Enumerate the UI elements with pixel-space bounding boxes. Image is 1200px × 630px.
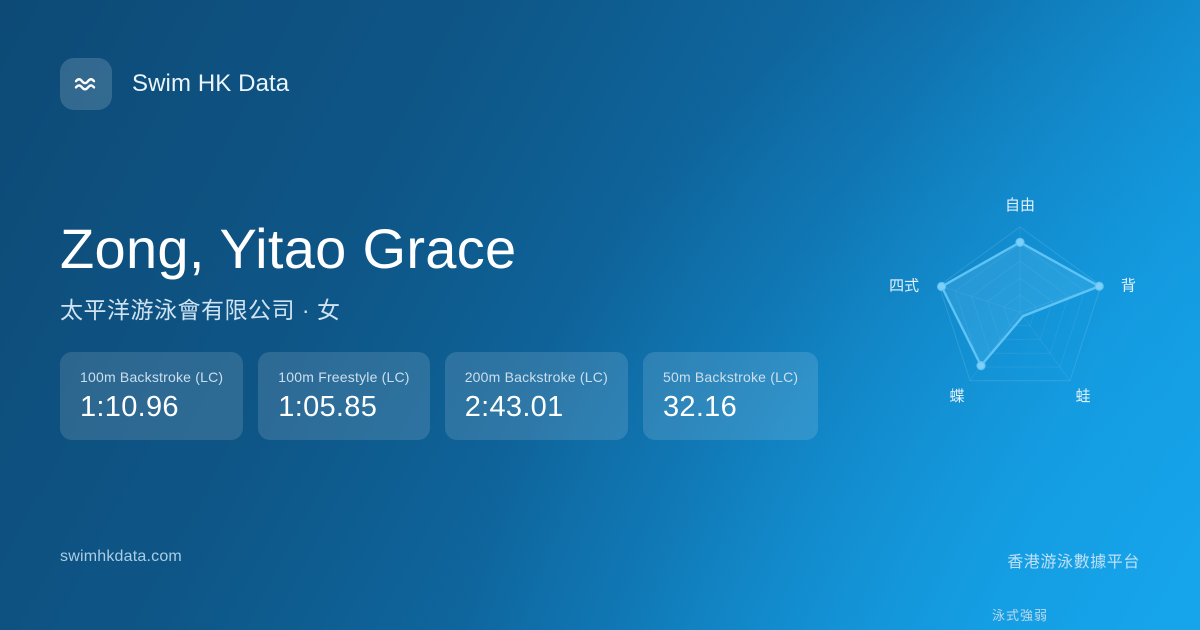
athlete-gender: 女 xyxy=(317,297,341,323)
athlete-club: 太平洋游泳會有限公司 xyxy=(60,297,295,323)
stat-card[interactable]: 100m Backstroke (LC) 1:10.96 xyxy=(60,352,243,440)
stroke-strength-radar-chart: 自由背蛙蝶四式 泳式強弱 xyxy=(860,165,1180,475)
stat-card-value: 2:43.01 xyxy=(465,391,608,424)
radar-axis-spoke xyxy=(1020,312,1070,381)
stat-card-label: 100m Freestyle (LC) xyxy=(278,369,409,385)
radar-axis-label: 蝶 xyxy=(950,388,965,405)
stat-card[interactable]: 50m Backstroke (LC) 32.16 xyxy=(643,352,818,440)
brand-header: Swim HK Data xyxy=(60,58,289,110)
radar-data-polygon xyxy=(942,242,1100,365)
stat-card[interactable]: 200m Backstroke (LC) 2:43.01 xyxy=(445,352,628,440)
radar-axis-label: 背 xyxy=(1121,278,1136,295)
brand-name: Swim HK Data xyxy=(132,70,289,98)
radar-axis-label: 自由 xyxy=(1005,197,1035,214)
stat-card-label: 100m Backstroke (LC) xyxy=(80,369,223,385)
share-card: Swim HK Data Zong, Yitao Grace 太平洋游泳會有限公… xyxy=(0,0,1200,630)
stat-card-value: 1:10.96 xyxy=(80,391,223,424)
radar-data-point xyxy=(1095,282,1103,290)
meta-separator: · xyxy=(302,297,310,323)
stat-card-label: 200m Backstroke (LC) xyxy=(465,369,608,385)
radar-data-point xyxy=(1016,238,1024,246)
page-title: Zong, Yitao Grace xyxy=(60,218,516,281)
stat-card[interactable]: 100m Freestyle (LC) 1:05.85 xyxy=(258,352,429,440)
wave-icon xyxy=(71,69,101,99)
athlete-subtitle: 太平洋游泳會有限公司 · 女 xyxy=(60,291,516,325)
stat-card-list: 100m Backstroke (LC) 1:10.96 100m Freest… xyxy=(60,352,818,440)
radar-data-point xyxy=(977,362,985,370)
stat-card-value: 32.16 xyxy=(663,391,798,424)
app-logo xyxy=(60,58,112,110)
radar-caption: 泳式強弱 xyxy=(860,605,1180,624)
hero-block: Zong, Yitao Grace 太平洋游泳會有限公司 · 女 xyxy=(60,218,516,325)
radar-axis-label: 蛙 xyxy=(1075,388,1090,405)
stat-card-value: 1:05.85 xyxy=(278,391,409,424)
radar-axis-label: 四式 xyxy=(889,278,919,295)
radar-data-point xyxy=(938,283,946,291)
radar-svg: 自由背蛙蝶四式 xyxy=(860,165,1180,475)
stat-card-label: 50m Backstroke (LC) xyxy=(663,369,798,385)
footer-tagline: 香港游泳數據平台 xyxy=(1007,548,1140,572)
footer-site-url[interactable]: swimhkdata.com xyxy=(60,548,182,566)
